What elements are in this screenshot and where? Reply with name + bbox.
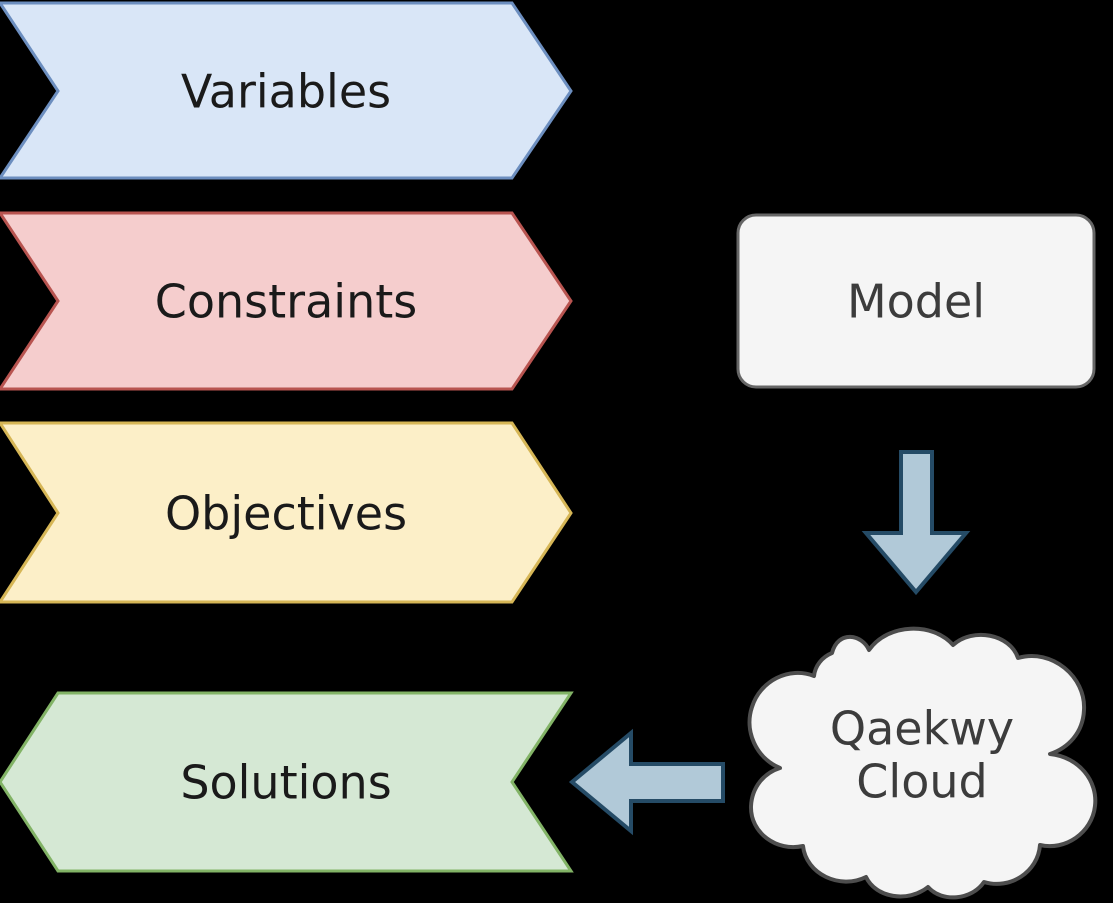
node-variables[interactable]: Variables	[0, 3, 571, 178]
cloud-label-line1: Qaekwy	[830, 702, 1014, 756]
node-qaekwy-cloud[interactable]: Qaekwy Cloud	[750, 629, 1096, 898]
objectives-label: Objectives	[165, 487, 407, 541]
flow-diagram: Variables Constraints Objectives Solutio…	[0, 0, 1113, 903]
node-constraints[interactable]: Constraints	[0, 213, 571, 389]
constraints-label: Constraints	[155, 275, 417, 329]
solutions-label: Solutions	[180, 756, 391, 810]
arrow-left-icon	[572, 733, 723, 831]
node-objectives[interactable]: Objectives	[0, 423, 571, 602]
cloud-label-line2: Cloud	[856, 755, 987, 809]
node-model[interactable]: Model	[738, 215, 1094, 387]
variables-label: Variables	[181, 65, 391, 119]
arrow-down-icon	[866, 452, 966, 592]
arrow-model-to-cloud	[866, 452, 966, 592]
arrow-cloud-to-solutions	[572, 733, 723, 831]
diagram-canvas: Variables Constraints Objectives Solutio…	[0, 0, 1113, 903]
model-label: Model	[847, 275, 985, 329]
node-solutions[interactable]: Solutions	[0, 693, 571, 871]
